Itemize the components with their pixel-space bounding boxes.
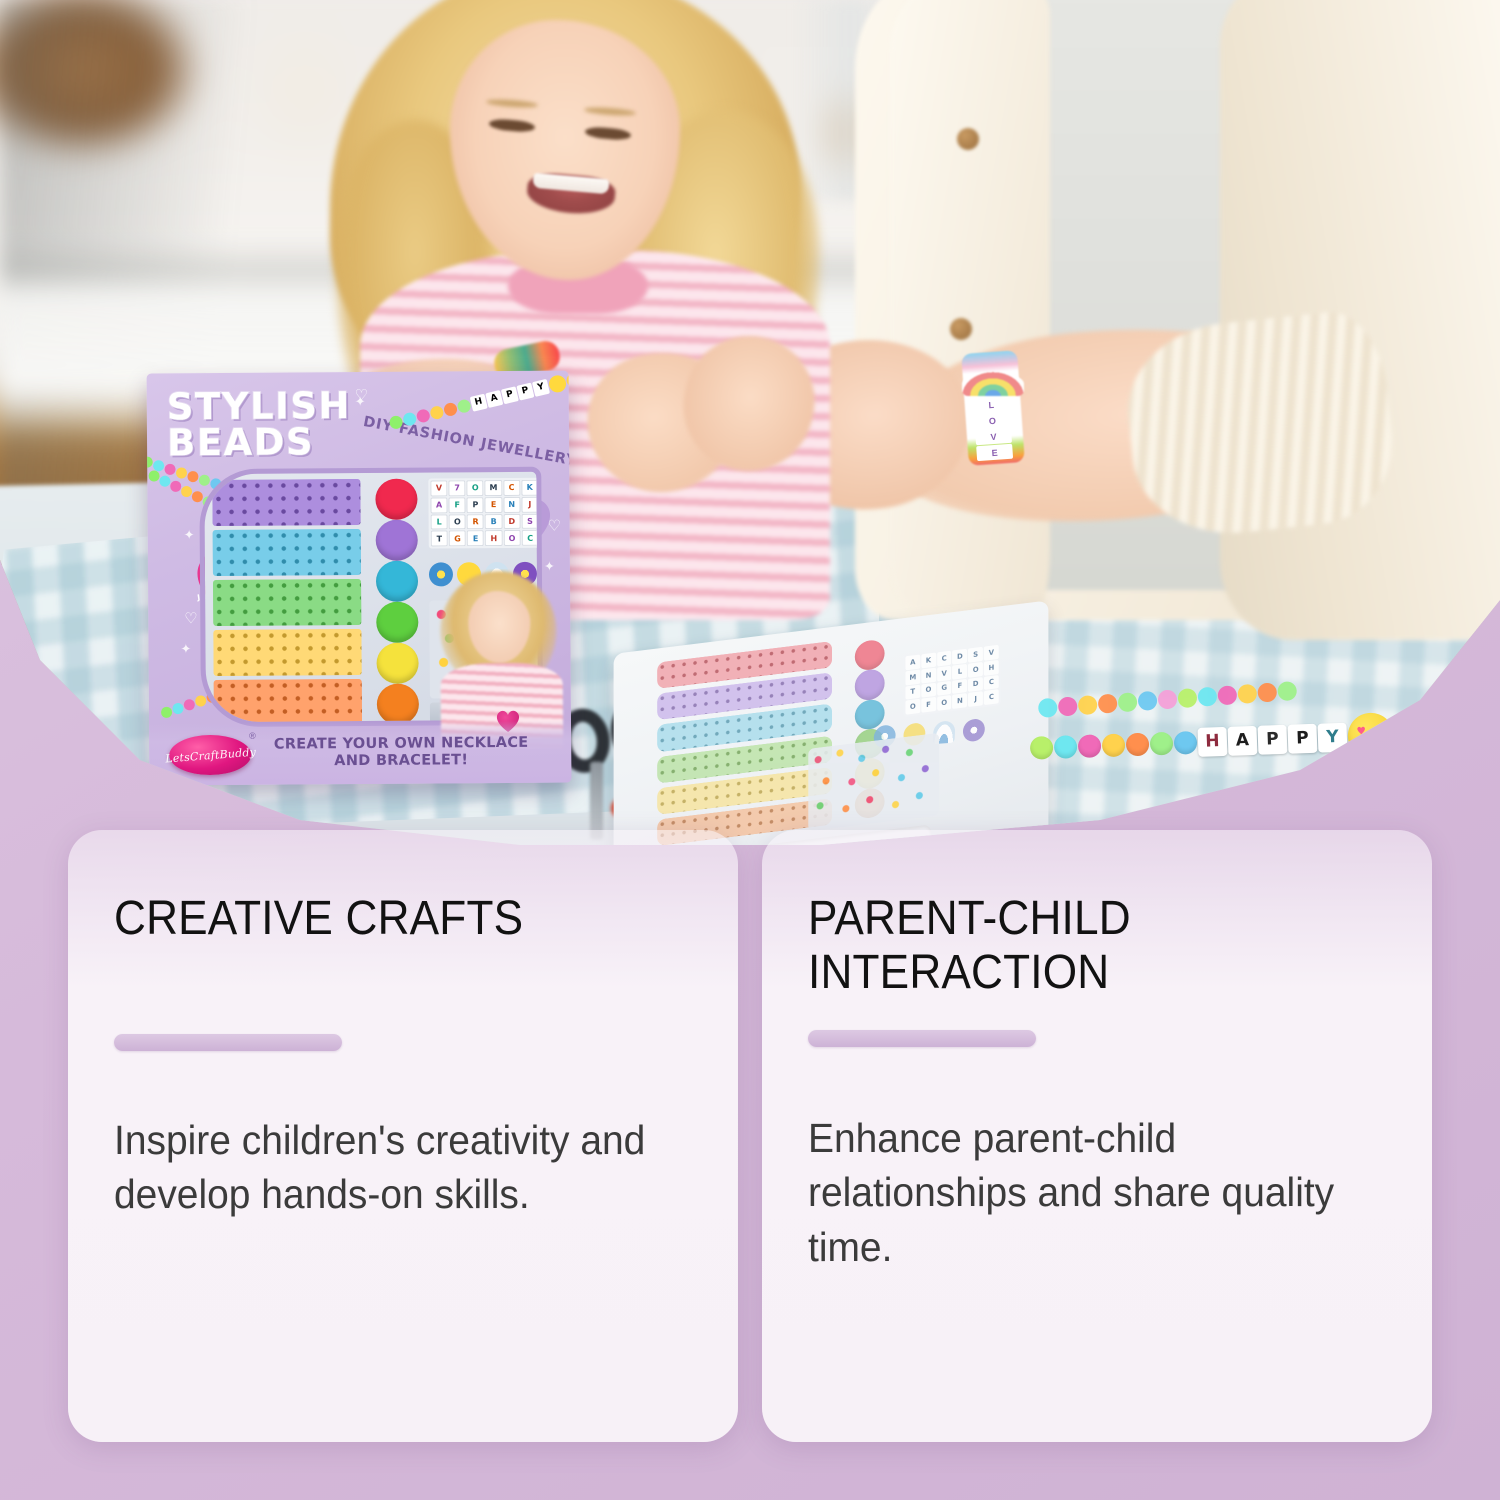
letter-bead: V — [984, 645, 999, 661]
bead — [1126, 732, 1150, 756]
feature-title: CREATIVE CRAFTS — [114, 892, 646, 946]
letter-bead: M — [905, 669, 920, 685]
letter-bead: F — [953, 678, 968, 694]
accent-bar — [808, 1030, 1036, 1047]
letter-bead: Y — [532, 378, 550, 396]
heart-icon: ♡ — [355, 386, 369, 404]
sparkle-icon: ✦ — [180, 641, 191, 657]
tray-letter-beads: AKCDSVMNVLOHTOGFDCOFONJC — [903, 643, 1000, 717]
letter-bead: K — [921, 653, 936, 669]
letter-bead: O — [921, 682, 936, 698]
letter-bead: M — [485, 480, 502, 496]
letter-bead: T — [431, 531, 448, 547]
letter-bead: D — [503, 513, 520, 529]
letter-bead: C — [984, 675, 999, 691]
letter-bead: C — [503, 480, 520, 496]
cardigan-button — [950, 318, 972, 340]
letter-bead: S — [521, 513, 538, 529]
letter-bead: G — [449, 531, 466, 547]
letter-bead: O — [503, 530, 520, 546]
letter-bead: H — [1197, 726, 1227, 756]
letter-bead: H — [485, 530, 502, 546]
product-feature-panel: LOVE AKCDSVMNVLOHTOGFDCOFONJC — [0, 0, 1500, 1500]
letter-bead: O — [905, 699, 920, 715]
bead-strip — [213, 529, 361, 576]
letter-bead: A — [430, 497, 447, 513]
feature-cards: CREATIVE CRAFTS Inspire children's creat… — [68, 830, 1432, 1442]
letter-bead: F — [921, 697, 936, 713]
heart-eye-icon — [1357, 726, 1366, 734]
letter-bead: E — [467, 530, 484, 546]
letter-bead: V — [937, 665, 952, 681]
letter-bead: L — [431, 514, 448, 530]
bead — [1102, 733, 1126, 757]
feature-body: Enhance parent-child relationships and s… — [808, 1111, 1357, 1275]
bead — [429, 404, 445, 420]
letter-bead: N — [921, 667, 936, 683]
bead — [1197, 687, 1217, 707]
letter-bead: D — [953, 649, 968, 665]
bead — [1078, 734, 1102, 758]
bead — [1054, 735, 1078, 759]
box-title: STYLISH BEADS — [167, 388, 352, 461]
letter-bead: R — [467, 514, 484, 530]
smile-mouth-icon — [1359, 737, 1383, 750]
letter-bead: H — [984, 660, 999, 676]
bead — [388, 414, 404, 430]
bead — [1418, 722, 1442, 746]
product-box: STYLISH BEADS DIY FASHION JEWELLERY HAPP… — [147, 371, 572, 786]
letter-bead: C — [984, 689, 999, 705]
box-bead-strips — [212, 479, 362, 726]
feature-card-creative-crafts: CREATIVE CRAFTS Inspire children's creat… — [68, 830, 738, 1442]
love-bracelet-letters: LOVE — [973, 397, 1013, 461]
letter-bead: L — [953, 664, 968, 680]
rainbow-charm-icon — [962, 372, 1024, 396]
bead — [1277, 681, 1297, 701]
bead — [1394, 723, 1418, 747]
heart-icon: ♡ — [548, 517, 562, 535]
letter-bead: C — [521, 530, 538, 546]
letter-bead: V — [430, 480, 447, 496]
bead-disc — [376, 643, 418, 684]
bead-disc — [377, 684, 419, 725]
bead — [415, 408, 431, 424]
cardigan-button — [957, 128, 979, 150]
letter-bead: N — [503, 497, 520, 513]
letter-bead: B — [485, 513, 502, 529]
letter-bead: A — [1227, 725, 1257, 755]
letter-bead: N — [953, 693, 968, 709]
letter-bead: P — [467, 497, 484, 513]
flower-charm-purple-icon — [962, 718, 985, 742]
bead — [1237, 684, 1257, 704]
feature-card-parent-child-interaction: PARENT-CHILD INTERACTION Enhance parent-… — [762, 830, 1432, 1442]
letter-bead: E — [976, 444, 1013, 461]
box-cta-line2: AND BRACELET! — [334, 752, 468, 769]
accent-bar — [114, 1034, 342, 1051]
letter-bead: C — [937, 651, 952, 667]
tray-mixed-beads — [808, 733, 939, 832]
feature-body: Inspire children's creativity and develo… — [114, 1113, 663, 1222]
letter-bead: J — [968, 691, 983, 707]
letter-bead: T — [905, 684, 920, 700]
bead-strip — [213, 629, 361, 676]
bead-disc — [376, 520, 418, 561]
letter-bead: S — [968, 647, 983, 663]
letter-bead: A — [905, 654, 920, 670]
brand-logo-text: LetsCraftBuddy — [164, 745, 256, 765]
bead-disc — [375, 479, 417, 520]
box-cta-line1: CREATE YOUR OWN NECKLACE — [274, 735, 529, 753]
letter-bead: L — [973, 397, 1010, 414]
letter-bead: P — [1287, 723, 1317, 753]
tray-bead-strips — [657, 641, 832, 846]
lifestyle-photo: LOVE AKCDSVMNVLOHTOGFDCOFONJC — [0, 0, 1500, 870]
letter-bead: O — [467, 480, 484, 496]
box-title-line2: BEADS — [167, 420, 314, 464]
bead-strip — [212, 479, 360, 526]
heart-eye-icon — [1375, 725, 1384, 733]
letter-bead: O — [937, 695, 952, 711]
letter-bead: F — [449, 497, 466, 513]
tray-bead-disc — [855, 639, 885, 672]
feature-title: PARENT-CHILD INTERACTION — [808, 892, 1340, 1000]
tray-bead-disc — [855, 668, 885, 701]
happy-bracelet: HAPPY — [1029, 700, 1361, 783]
sparkle-icon: ✦ — [184, 527, 195, 543]
letter-bead: G — [937, 680, 952, 696]
smiley-bead — [547, 373, 567, 393]
box-bead-discs — [370, 479, 424, 725]
letter-bead: O — [968, 662, 983, 678]
bead — [1150, 731, 1174, 755]
letter-bead: 7 — [448, 480, 465, 496]
letter-bead: O — [449, 514, 466, 530]
box-cta: CREATE YOUR OWN NECKLACE AND BRACELET! — [261, 735, 541, 771]
letter-bead: Y — [1317, 722, 1347, 752]
letter-bead: E — [485, 497, 502, 513]
smiley-bead — [1347, 712, 1395, 760]
box-happy-bracelet-art: HAPPY — [386, 371, 572, 439]
bead — [443, 401, 459, 417]
bead — [402, 411, 418, 427]
letter-bead: D — [968, 676, 983, 692]
bead-disc — [376, 602, 418, 643]
letter-bead: J — [521, 496, 538, 512]
trademark-symbol: ® — [249, 731, 256, 741]
bead — [1030, 735, 1054, 759]
bead-disc — [376, 561, 418, 602]
bead — [1217, 685, 1237, 705]
bead — [1174, 730, 1198, 754]
heart-icon: ♡ — [184, 609, 198, 627]
bead — [1466, 720, 1490, 744]
letter-bead: O — [974, 413, 1011, 430]
bead — [1257, 682, 1277, 702]
bead-strip — [214, 679, 362, 726]
bead-strip — [213, 579, 361, 626]
letter-bead: P — [1257, 724, 1287, 754]
bead — [1442, 721, 1466, 745]
letter-bead: V — [975, 428, 1012, 445]
letter-bead: K — [521, 480, 538, 496]
box-letter-beads: V7OMCKAFPENJLORBDSTGEHOC — [428, 478, 540, 549]
